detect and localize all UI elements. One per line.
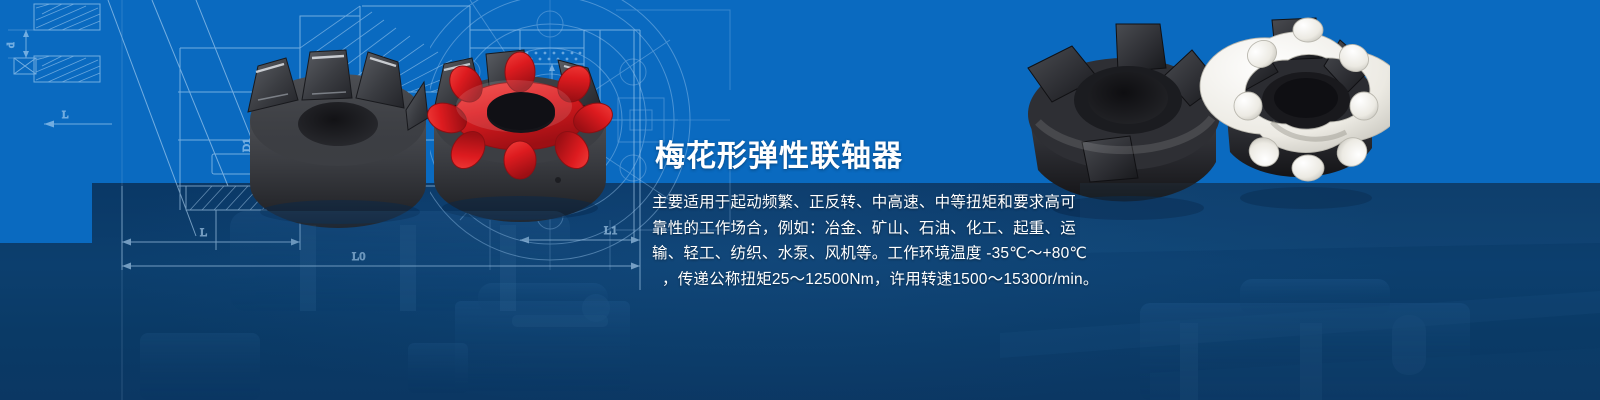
jaw-coupling-white-spider bbox=[1200, 18, 1390, 209]
svg-text:L: L bbox=[62, 109, 69, 121]
product-description: 主要适用于起动频繁、正反转、中高速、中等扭矩和要求高可 靠性的工作场合，例如：冶… bbox=[652, 190, 1072, 292]
product-banner: d bbox=[0, 0, 1600, 400]
description-line-4: ，传递公称扭矩25～12500Nm，许用转速1500～15300r/min。 bbox=[652, 267, 1072, 293]
page-title: 梅花形弹性联轴器 bbox=[655, 137, 903, 177]
description-line-1: 主要适用于起动频繁、正反转、中高速、中等扭矩和要求高可 bbox=[652, 190, 1072, 216]
description-line-3: 输、轻工、纺织、水泵、风机等。工作环境温度 -35℃～+80℃ bbox=[652, 241, 1072, 267]
description-line-2: 靠性的工作场合，例如：冶金、矿山、石油、化工、起重、运 bbox=[652, 216, 1072, 242]
svg-text:d: d bbox=[5, 42, 17, 48]
